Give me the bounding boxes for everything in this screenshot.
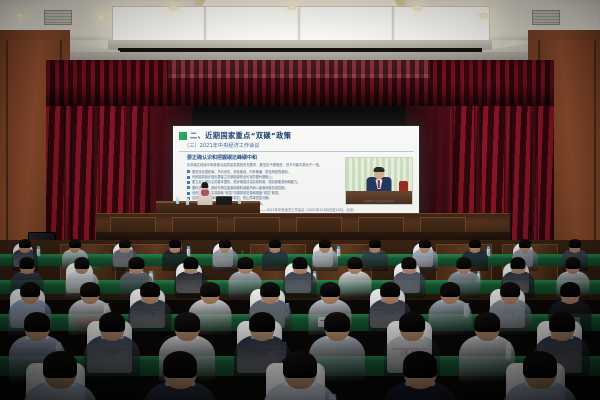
- audience-member-hair: [380, 282, 400, 297]
- slide-bullet-text: 要科学考核，新增可再生能源和原料用能不纳入能源消费总量控制。: [192, 186, 345, 190]
- slide-divider: [179, 151, 414, 152]
- slide-bullet-1: 要坚持全国统筹、节约优先、双轮驱动、内外畅通、防范风险的原则。: [187, 170, 345, 174]
- audience-member-hair: [20, 282, 40, 297]
- audience-member-hair: [74, 257, 89, 269]
- slide-body-heading: 要正确认识和把握碳达峰碳中和: [187, 154, 345, 161]
- bullet-marker-icon: [187, 170, 190, 173]
- slide-title-bullet-icon: [179, 132, 187, 140]
- downlight-6: [168, 4, 179, 11]
- audience-member-hair: [475, 312, 501, 332]
- audience-member-hair: [550, 312, 576, 332]
- downlight-4: [478, 12, 489, 19]
- slide-bullet-text: 要坚持全国统筹、节约优先、双轮驱动、内外畅通、防范风险的原则。: [192, 170, 345, 174]
- audience-member-hair: [500, 282, 520, 297]
- slide-bullet-text: 要立足以煤为主的基本国情，抓好煤炭清洁高效利用，增加新能源消纳能力。: [192, 180, 345, 184]
- ceiling-vent-right: [532, 10, 560, 25]
- audience-member-hair: [43, 351, 77, 378]
- audience-member-hair: [319, 239, 331, 248]
- downlight-8: [412, 4, 423, 11]
- audience-member-hair: [200, 282, 220, 297]
- bullet-marker-icon: [187, 192, 190, 195]
- audience-member-hair: [456, 257, 471, 269]
- audience-member-hair: [369, 239, 381, 248]
- audience-member-hair: [400, 312, 426, 332]
- downlight-1: [14, 12, 25, 19]
- audience-member-hair: [169, 239, 181, 248]
- ceiling-light-panel: [112, 6, 490, 42]
- speaker-tie: [378, 180, 380, 188]
- slide-title-bar: 二、近期国家重点“双碳”政策: [179, 130, 414, 141]
- audience-member-hair: [129, 257, 144, 269]
- presenter-scarf: [201, 189, 209, 196]
- audience-member-hair: [320, 282, 340, 297]
- audience-member-hair: [69, 239, 81, 248]
- slide-photo: 中央经济工作会议在北京举行: [345, 157, 413, 205]
- audience-member-hair: [25, 312, 51, 332]
- audience-member-hair: [283, 351, 317, 378]
- downlight-7: [286, 4, 297, 11]
- head-table-bottle-2: [186, 198, 189, 205]
- bullet-marker-icon: [187, 176, 190, 179]
- audience-member-hair: [419, 239, 431, 248]
- presenter-laptop: [216, 196, 232, 205]
- audience-member-hair: [19, 239, 31, 248]
- audience-member: [142, 348, 219, 400]
- audience-member: [22, 348, 99, 400]
- slide-bullet-2: 传统能源逐步退出要建立在新能源安全可靠的替代基础上。: [187, 175, 345, 179]
- bullet-marker-icon: [187, 186, 190, 189]
- head-table-bottle-1: [176, 197, 179, 204]
- audience-member-hair: [325, 312, 351, 332]
- audience-member-hair: [269, 239, 281, 248]
- audience-member-hair: [250, 312, 276, 332]
- slide-subtitle: （三）2021年中央经济工作会议: [179, 142, 414, 150]
- audience-member-hair: [523, 351, 557, 378]
- audience-member-hair: [238, 257, 253, 269]
- head-table-bottle-3: [238, 197, 241, 204]
- bullet-marker-icon: [187, 181, 190, 184]
- audience-member-hair: [469, 239, 481, 248]
- conference-hall-photo: 二、近期国家重点“双碳”政策 （三）2021年中央经济工作会议 要正确认识和把握…: [0, 0, 600, 400]
- audience-member: [382, 348, 459, 400]
- downlight-2: [96, 14, 107, 21]
- presenter-hair: [201, 182, 208, 188]
- audience-member-hair: [560, 282, 580, 297]
- audience-member-hair: [80, 282, 100, 297]
- audience-member-hair: [519, 239, 531, 248]
- speaker-hair: [374, 167, 385, 172]
- audience-member-hair: [183, 257, 198, 269]
- audience-member-hair: [20, 257, 35, 269]
- audience-member: [262, 348, 339, 400]
- slide-body-lead: 实现碳达峰碳中和是推动高质量发展的内在要求，要坚定不移推进，但不可能毕其功于一役…: [187, 163, 345, 168]
- audience-member-hair: [401, 257, 416, 269]
- audience-member-hair: [219, 239, 231, 248]
- slide-photo-caption: 中央经济工作会议在北京举行: [346, 199, 412, 203]
- slide-bullet-text: 传统能源逐步退出要建立在新能源安全可靠的替代基础上。: [192, 175, 345, 179]
- presenter: [196, 183, 214, 205]
- stage-curtain-valance: [46, 60, 554, 106]
- audience-member-hair: [440, 282, 460, 297]
- audience-member-hair: [100, 312, 126, 332]
- audience-member-hair: [140, 282, 160, 297]
- audience-member-hair: [511, 257, 526, 269]
- audience-member-hair: [260, 282, 280, 297]
- slide-title: 二、近期国家重点“双碳”政策: [190, 131, 291, 141]
- audience-member-hair: [163, 351, 197, 378]
- audience-member: [502, 348, 579, 400]
- audience-member-hair: [175, 312, 201, 332]
- audience-seating-area: 江西·南昌江西·南昌江西·南昌江西·南昌江西·南昌江西·南昌江西·南昌江西·南昌…: [0, 236, 600, 400]
- audience-member-hair: [119, 239, 131, 248]
- slide-bullet-text: 创造条件尽早实现能耗“双控”向碳排放总量和强度“双控”转变。: [192, 191, 345, 195]
- audience-member-hair: [403, 351, 437, 378]
- audience-member-hair: [569, 239, 581, 248]
- audience-member-hair: [292, 257, 307, 269]
- ceiling-vent-left: [44, 10, 72, 25]
- audience-member-hair: [565, 257, 580, 269]
- audience-member-hair: [347, 257, 362, 269]
